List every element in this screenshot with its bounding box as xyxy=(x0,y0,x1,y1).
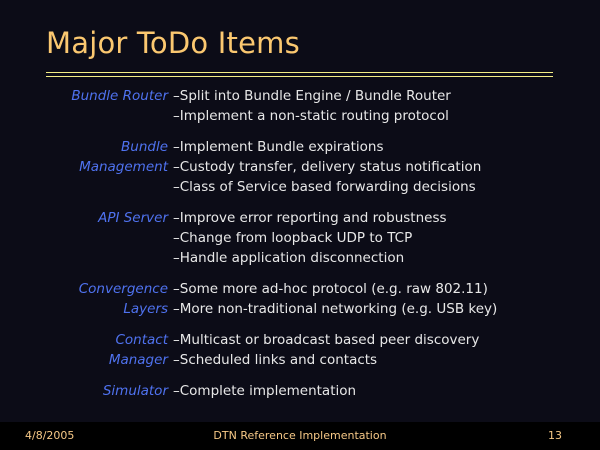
todo-item: –Implement a non-static routing protocol xyxy=(173,106,600,126)
todo-item-list: –Complete implementation xyxy=(168,381,600,401)
todo-section-label: Bundle Router xyxy=(0,86,168,106)
todo-item-text: Custody transfer, delivery status notifi… xyxy=(180,159,482,175)
todo-item-text: More non-traditional networking (e.g. US… xyxy=(180,301,498,317)
todo-item-text: Change from loopback UDP to TCP xyxy=(180,230,412,246)
todo-item-text: Class of Service based forwarding decisi… xyxy=(180,179,476,195)
todo-section: API Server–Improve error reporting and r… xyxy=(0,208,600,268)
todo-item: –Class of Service based forwarding decis… xyxy=(173,177,600,197)
presentation-slide: Major ToDo Items Bundle Router–Split int… xyxy=(0,0,600,450)
bullet-dash-icon: – xyxy=(173,301,180,317)
bullet-dash-icon: – xyxy=(173,159,180,175)
todo-section-label: ContactManager xyxy=(0,330,168,370)
bullet-dash-icon: – xyxy=(173,383,180,399)
todo-section: Bundle Router–Split into Bundle Engine /… xyxy=(0,86,600,126)
bullet-dash-icon: – xyxy=(173,108,180,124)
bullet-dash-icon: – xyxy=(173,281,180,297)
footer-page-number: 13 xyxy=(510,429,600,443)
todo-item-list: –Some more ad-hoc protocol (e.g. raw 802… xyxy=(168,279,600,319)
todo-section: BundleManagement–Implement Bundle expira… xyxy=(0,137,600,197)
bullet-dash-icon: – xyxy=(173,210,180,226)
todo-item-text: Handle application disconnection xyxy=(180,250,404,266)
bullet-dash-icon: – xyxy=(173,179,180,195)
todo-item-text: Implement a non-static routing protocol xyxy=(180,108,449,124)
todo-section-label: ConvergenceLayers xyxy=(0,279,168,319)
todo-item-list: –Multicast or broadcast based peer disco… xyxy=(168,330,600,370)
todo-item-text: Split into Bundle Engine / Bundle Router xyxy=(180,88,451,104)
todo-section: Simulator–Complete implementation xyxy=(0,381,600,401)
todo-section: ConvergenceLayers–Some more ad-hoc proto… xyxy=(0,279,600,319)
todo-item: –Change from loopback UDP to TCP xyxy=(173,228,600,248)
todo-item: –Scheduled links and contacts xyxy=(173,350,600,370)
todo-section-label-line: Bundle Router xyxy=(0,86,168,106)
todo-section-label-line: Manager xyxy=(0,350,168,370)
todo-section-label-line: Convergence xyxy=(0,279,168,299)
todo-item: –Improve error reporting and robustness xyxy=(173,208,600,228)
todo-section-label-line: Contact xyxy=(0,330,168,350)
todo-item: –Custody transfer, delivery status notif… xyxy=(173,157,600,177)
todo-item-text: Some more ad-hoc protocol (e.g. raw 802.… xyxy=(180,281,488,297)
slide-title: Major ToDo Items xyxy=(46,26,300,60)
todo-section-label-line: Layers xyxy=(0,299,168,319)
todo-section-label: Simulator xyxy=(0,381,168,401)
title-divider xyxy=(46,72,553,77)
todo-item-list: –Implement Bundle expirations–Custody tr… xyxy=(168,137,600,197)
todo-item: –More non-traditional networking (e.g. U… xyxy=(173,299,600,319)
bullet-dash-icon: – xyxy=(173,332,180,348)
bullet-dash-icon: – xyxy=(173,250,180,266)
todo-section-label-line: Bundle xyxy=(0,137,168,157)
todo-section-label: API Server xyxy=(0,208,168,228)
todo-item-list: –Split into Bundle Engine / Bundle Route… xyxy=(168,86,600,126)
slide-footer: 4/8/2005 DTN Reference Implementation 13 xyxy=(0,422,600,450)
todo-section-label-line: Management xyxy=(0,157,168,177)
todo-item-text: Multicast or broadcast based peer discov… xyxy=(180,332,480,348)
todo-item-text: Complete implementation xyxy=(180,383,356,399)
slide-body: Bundle Router–Split into Bundle Engine /… xyxy=(0,86,600,412)
todo-section-label-line: API Server xyxy=(0,208,168,228)
bullet-dash-icon: – xyxy=(173,88,180,104)
todo-item: –Handle application disconnection xyxy=(173,248,600,268)
todo-item-list: –Improve error reporting and robustness–… xyxy=(168,208,600,268)
todo-item: –Implement Bundle expirations xyxy=(173,137,600,157)
title-divider-line-bottom xyxy=(46,76,553,77)
todo-item-text: Improve error reporting and robustness xyxy=(180,210,447,226)
todo-item: –Complete implementation xyxy=(173,381,600,401)
todo-section-label: BundleManagement xyxy=(0,137,168,177)
todo-item: –Multicast or broadcast based peer disco… xyxy=(173,330,600,350)
bullet-dash-icon: – xyxy=(173,352,180,368)
bullet-dash-icon: – xyxy=(173,230,180,246)
todo-item-text: Scheduled links and contacts xyxy=(180,352,377,368)
title-divider-line-top xyxy=(46,72,553,73)
todo-item-text: Implement Bundle expirations xyxy=(180,139,384,155)
todo-item: –Split into Bundle Engine / Bundle Route… xyxy=(173,86,600,106)
bullet-dash-icon: – xyxy=(173,139,180,155)
todo-item: –Some more ad-hoc protocol (e.g. raw 802… xyxy=(173,279,600,299)
todo-section-label-line: Simulator xyxy=(0,381,168,401)
todo-section: ContactManager–Multicast or broadcast ba… xyxy=(0,330,600,370)
